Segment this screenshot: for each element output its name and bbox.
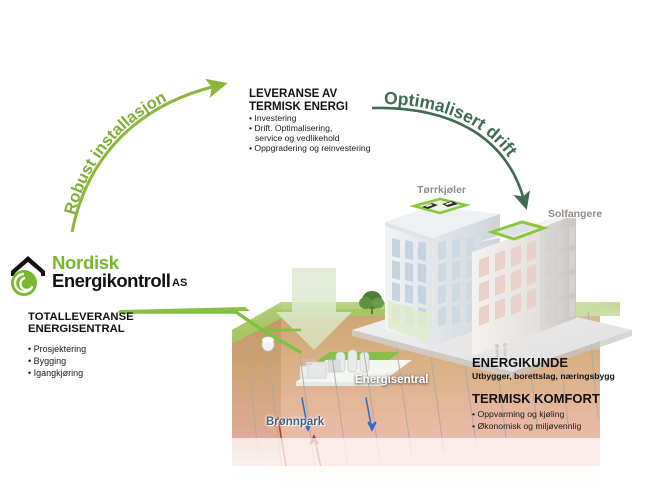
arc-left-label: Robust installasjon [61, 88, 169, 216]
totalleveranse-bullet-1: Bygging [28, 355, 203, 367]
arc-right-label: Optimalisert drift [384, 88, 522, 160]
pipe-valve-icon [262, 337, 274, 351]
logo-word-energikontroll: Energikontroll [52, 271, 170, 290]
leveranse-block: LEVERANSE AV TERMISK ENERGI Investering … [249, 88, 399, 154]
leveranse-bullet-2: Oppgradering og reinvestering [249, 144, 399, 154]
svg-text:Robust installasjon: Robust installasjon [61, 88, 169, 216]
totalleveranse-title-line1: TOTALLEVERANSE [28, 311, 203, 323]
arc-robust-installasjon: Robust installasjon [61, 86, 216, 232]
totalleveranse-bullet-2: Igangkjøring [28, 367, 203, 379]
energikunde-subtitle: Utbygger, borettslag, næringsbygg [472, 371, 647, 382]
leveranse-title-line2: TERMISK ENERGI [249, 101, 399, 114]
logo-word-as: AS [172, 277, 187, 289]
infographic-canvas: Robust installasjon Optimalisert drift N… [0, 0, 650, 500]
energikunde-bullet-list: Oppvarming og kjøling Økonomisk og miljø… [472, 409, 647, 432]
leveranse-bullet-list: Investering Drift. Optimalisering, servi… [249, 114, 399, 154]
totalleveranse-title-line2: ENERGISENTRAL [28, 323, 203, 335]
svg-text:Optimalisert drift: Optimalisert drift [384, 88, 522, 160]
label-torrkjoler: Tørrkjøler [417, 184, 466, 196]
totalleveranse-bullet-0: Prosjektering [28, 343, 203, 355]
logo[interactable]: Nordisk Energikontroll AS [8, 253, 198, 301]
energikunde-title: ENERGIKUNDE [472, 355, 647, 370]
termisk-komfort-title: TERMISK KOMFORT [472, 391, 647, 406]
label-bronnpark: Brønnpark [266, 416, 324, 428]
leveranse-title-line1: LEVERANSE AV [249, 88, 399, 101]
totalleveranse-block: TOTALLEVERANSE ENERGISENTRAL Prosjekteri… [28, 311, 203, 379]
totalleveranse-bullet-list: Prosjektering Bygging Igangkjøring [28, 343, 203, 379]
label-solfangere: Solfangere [548, 208, 602, 220]
house-swirl-icon [8, 254, 50, 298]
energikunde-block: ENERGIKUNDE Utbygger, borettslag, næring… [472, 355, 647, 432]
energikunde-bullet-1: Økonomisk og miljøvennlig [472, 421, 647, 433]
energikunde-bullet-0: Oppvarming og kjøling [472, 409, 647, 421]
label-energisentral: Energisentral [355, 374, 429, 386]
